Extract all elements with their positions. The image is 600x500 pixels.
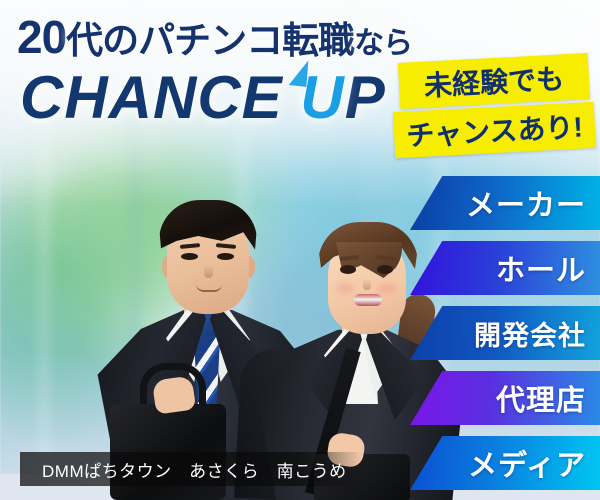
tag-development-company[interactable]: 開発会社 — [410, 306, 600, 360]
tag-media[interactable]: メディア — [410, 436, 600, 490]
woman-eye-left — [340, 265, 356, 274]
woman-eye-right — [377, 265, 393, 274]
logo-word-chance: CHANCE — [20, 64, 283, 131]
woman-cheek-right — [378, 283, 396, 294]
logo-letter-p: P — [345, 64, 386, 131]
badge-chance-available-label: チャンスあり! — [405, 105, 583, 154]
tag-agency[interactable]: 代理店 — [410, 371, 600, 425]
man-hand — [152, 375, 196, 414]
woman-mouth — [354, 294, 382, 306]
caption-bar: DMMぱちタウン あさくら 南こうめ — [20, 452, 362, 486]
tag-hall-label: ホール — [496, 247, 600, 289]
man-eye-right — [217, 253, 234, 260]
man-mouth — [196, 284, 222, 292]
headline-suffix: なら — [354, 27, 412, 60]
man-nose — [204, 265, 213, 278]
headline: 20代のパチンコ転職なら — [17, 14, 412, 60]
headline-number: 20 — [17, 11, 66, 63]
promo-banner: 20代のパチンコ転職なら CHANCE UP 未経験でも チャンスあり! メーカ… — [0, 0, 600, 500]
tag-media-label: メディア — [468, 442, 600, 484]
tag-hall[interactable]: ホール — [410, 241, 600, 295]
tag-maker-label: メーカー — [466, 182, 600, 224]
tag-agency-label: 代理店 — [496, 377, 600, 419]
badge-no-experience-label: 未経験でも — [423, 57, 565, 104]
woman-cheek-left — [336, 283, 354, 294]
caption-text: DMMぱちタウン あさくら 南こうめ — [20, 457, 347, 482]
tag-development-company-label: 開発会社 — [474, 314, 600, 353]
logo-chance-up: CHANCE UP — [20, 68, 386, 128]
headline-middle: 代のパチンコ転職 — [66, 20, 354, 61]
tag-maker[interactable]: メーカー — [410, 176, 600, 230]
man-eye-left — [181, 253, 198, 260]
category-tag-list: メーカー ホール 開発会社 代理店 メディア — [410, 176, 600, 500]
woman-nose — [363, 279, 371, 290]
